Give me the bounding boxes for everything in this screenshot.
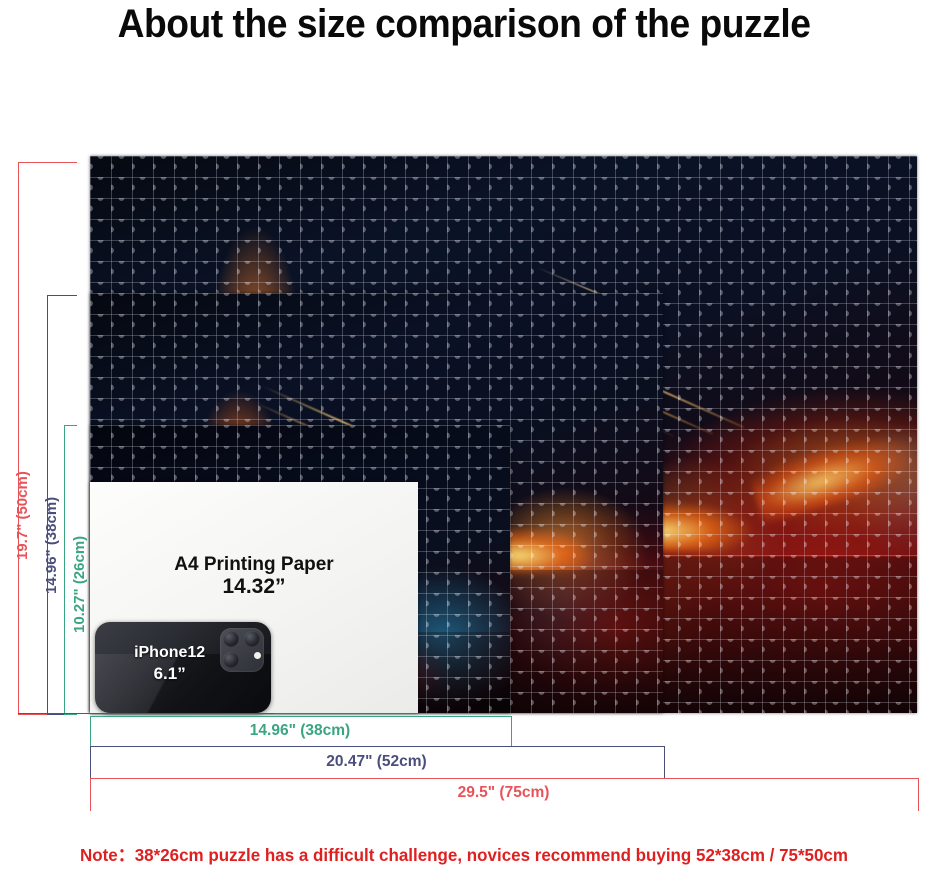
- dimension-label-horizontal-52cm: 20.47" (52cm): [90, 753, 663, 771]
- iphone-label-line1: iPhone12: [101, 644, 238, 662]
- dimension-label-vertical-26cm: 10.27" (26cm): [71, 536, 88, 633]
- dimension-label-vertical-50cm: 19.7" (50cm): [14, 471, 31, 560]
- dimension-label-horizontal-38cm: 14.96" (38cm): [90, 722, 510, 740]
- dimension-label-vertical-38cm: 14.96" (38cm): [43, 497, 60, 594]
- page-title: About the size comparison of the puzzle: [32, 2, 895, 47]
- dimension-label-horizontal-75cm: 29.5" (75cm): [90, 784, 917, 802]
- iphone-label-line2: 6.1”: [101, 664, 238, 683]
- footer-note: Note：38*26cm puzzle has a difficult chal…: [14, 842, 914, 867]
- a4-paper-label-line1: A4 Printing Paper: [90, 554, 418, 575]
- a4-paper-label-line2: 14.32”: [90, 575, 418, 599]
- camera-flash-icon: [254, 652, 261, 659]
- dimension-baseline: [18, 713, 274, 714]
- camera-lens-icon: [244, 631, 260, 647]
- iphone12-reference: iPhone12 6.1”: [95, 622, 271, 713]
